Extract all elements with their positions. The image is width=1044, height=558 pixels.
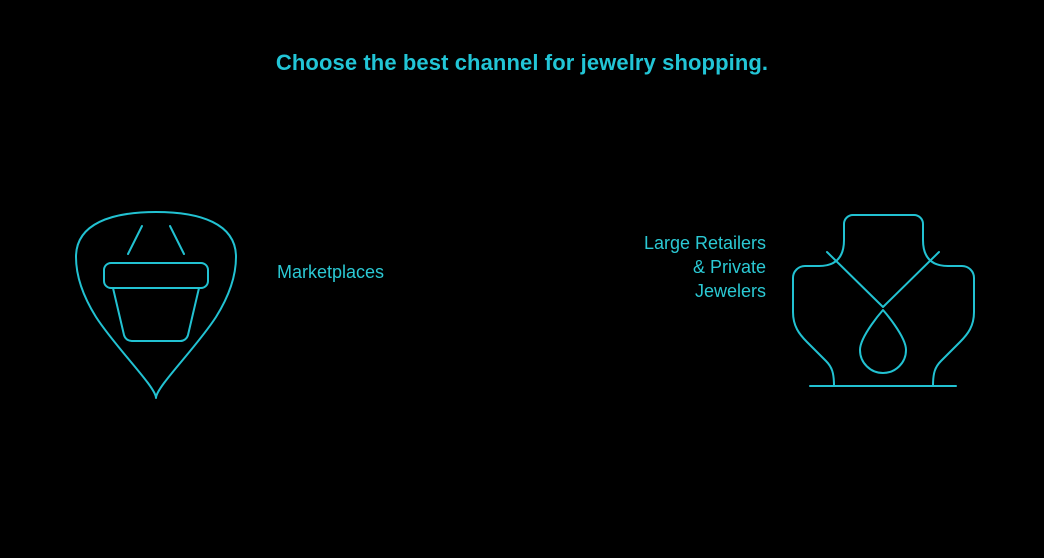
channel-label-retailers: Large Retailers & Private Jewelers <box>600 231 766 303</box>
location-pin-shopping-basket-icon <box>60 195 260 415</box>
channel-label-marketplaces: Marketplaces <box>277 260 417 284</box>
channel-item-retailers[interactable]: Large Retailers & Private Jewelers <box>600 195 1000 415</box>
channel-item-marketplaces[interactable]: Marketplaces <box>60 195 420 415</box>
page-title: Choose the best channel for jewelry shop… <box>0 49 1044 76</box>
necklace-bust-icon <box>790 200 990 410</box>
slide-canvas: Choose the best channel for jewelry shop… <box>0 0 1044 558</box>
